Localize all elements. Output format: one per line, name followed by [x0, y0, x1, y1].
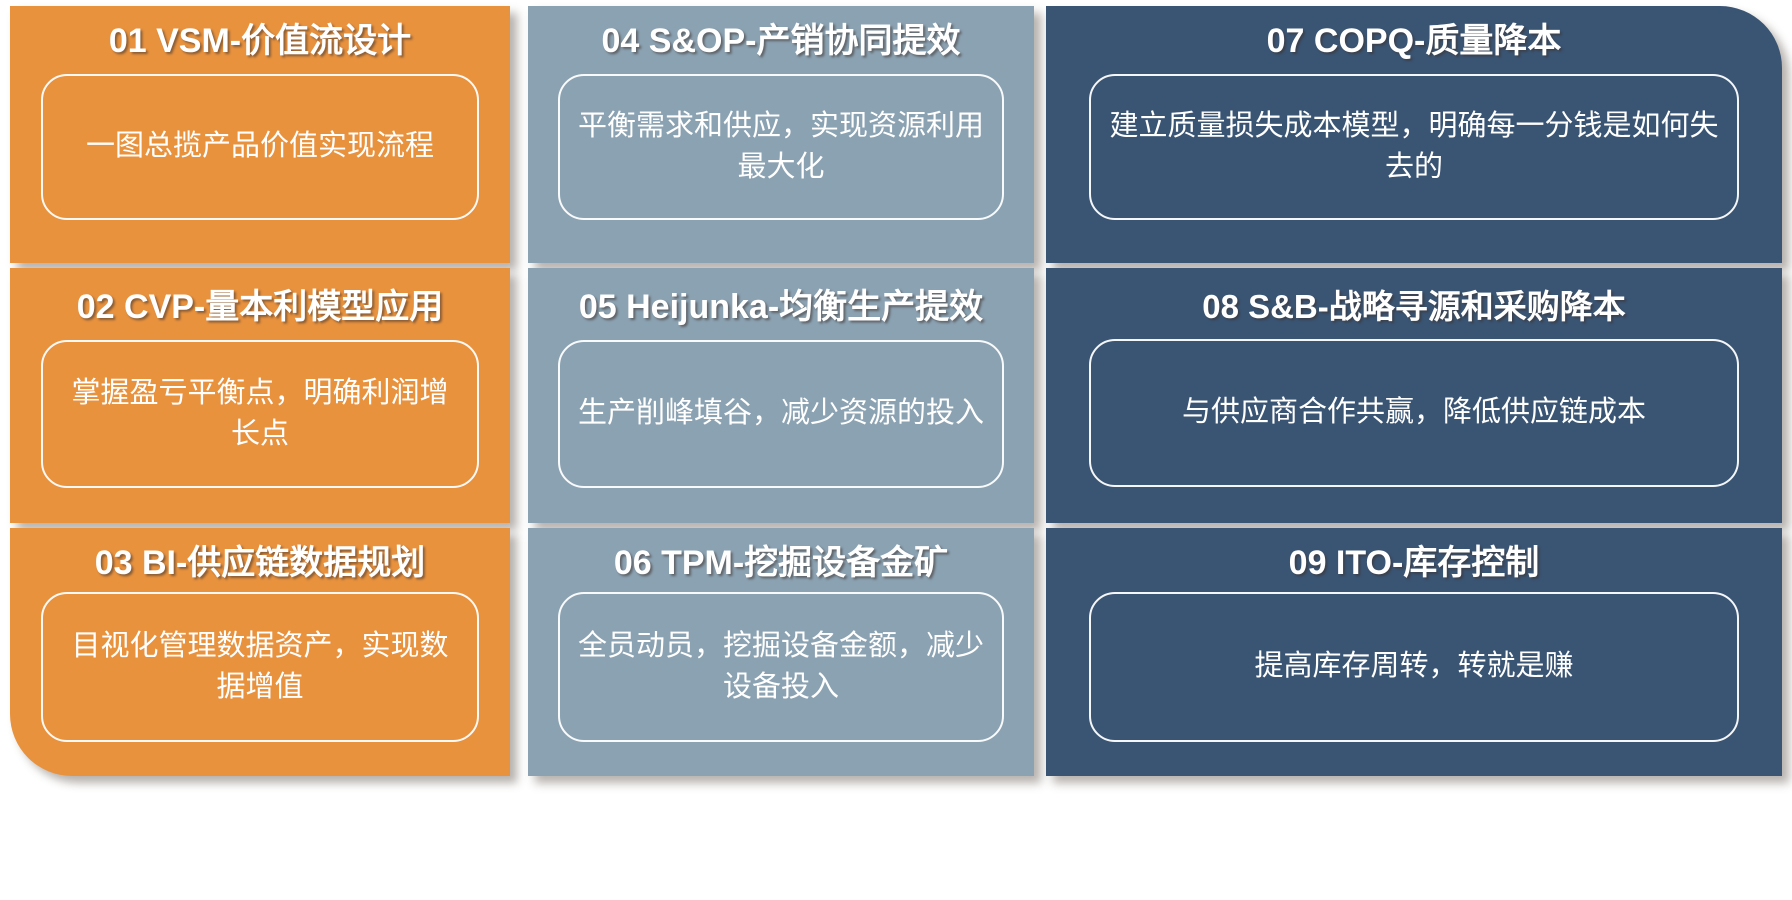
card-06-title: 06 TPM-挖掘设备金矿 [528, 528, 1034, 582]
card-05-title: 05 Heijunka-均衡生产提效 [528, 268, 1034, 326]
card-04-title: 04 S&OP-产销协同提效 [528, 6, 1034, 60]
card-01-vsm[interactable]: 01 VSM-价值流设计 一图总揽产品价值实现流程 [10, 6, 510, 263]
card-03-description: 目视化管理数据资产，实现数据增值 [41, 592, 479, 742]
card-05-description: 生产削峰填谷，减少资源的投入 [558, 340, 1004, 488]
card-04-sop[interactable]: 04 S&OP-产销协同提效 平衡需求和供应，实现资源利用最大化 [528, 6, 1034, 263]
card-05-heijunka[interactable]: 05 Heijunka-均衡生产提效 生产削峰填谷，减少资源的投入 [528, 268, 1034, 523]
card-02-cvp[interactable]: 02 CVP-量本利模型应用 掌握盈亏平衡点，明确利润增长点 [10, 268, 510, 523]
card-02-description: 掌握盈亏平衡点，明确利润增长点 [41, 340, 479, 488]
card-09-ito[interactable]: 09 ITO-库存控制 提高库存周转，转就是赚 [1046, 528, 1782, 776]
card-02-title: 02 CVP-量本利模型应用 [10, 268, 510, 326]
card-03-bi[interactable]: 03 BI-供应链数据规划 目视化管理数据资产，实现数据增值 [10, 528, 510, 776]
card-08-description: 与供应商合作共赢，降低供应链成本 [1089, 339, 1739, 487]
nine-module-card-grid: 01 VSM-价值流设计 一图总揽产品价值实现流程 02 CVP-量本利模型应用… [0, 0, 1792, 900]
card-03-title: 03 BI-供应链数据规划 [10, 528, 510, 582]
card-07-description: 建立质量损失成本模型，明确每一分钱是如何失去的 [1089, 74, 1739, 220]
card-08-sb[interactable]: 08 S&B-战略寻源和采购降本 与供应商合作共赢，降低供应链成本 [1046, 268, 1782, 523]
card-04-description: 平衡需求和供应，实现资源利用最大化 [558, 74, 1004, 220]
card-08-title: 08 S&B-战略寻源和采购降本 [1046, 268, 1782, 325]
card-07-copq[interactable]: 07 COPQ-质量降本 建立质量损失成本模型，明确每一分钱是如何失去的 [1046, 6, 1782, 263]
card-06-description: 全员动员，挖掘设备金额，减少设备投入 [558, 592, 1004, 742]
card-07-title: 07 COPQ-质量降本 [1046, 6, 1782, 60]
card-09-description: 提高库存周转，转就是赚 [1089, 592, 1739, 742]
card-09-title: 09 ITO-库存控制 [1046, 528, 1782, 582]
card-01-description: 一图总揽产品价值实现流程 [41, 74, 479, 220]
card-01-title: 01 VSM-价值流设计 [10, 6, 510, 60]
card-06-tpm[interactable]: 06 TPM-挖掘设备金矿 全员动员，挖掘设备金额，减少设备投入 [528, 528, 1034, 776]
